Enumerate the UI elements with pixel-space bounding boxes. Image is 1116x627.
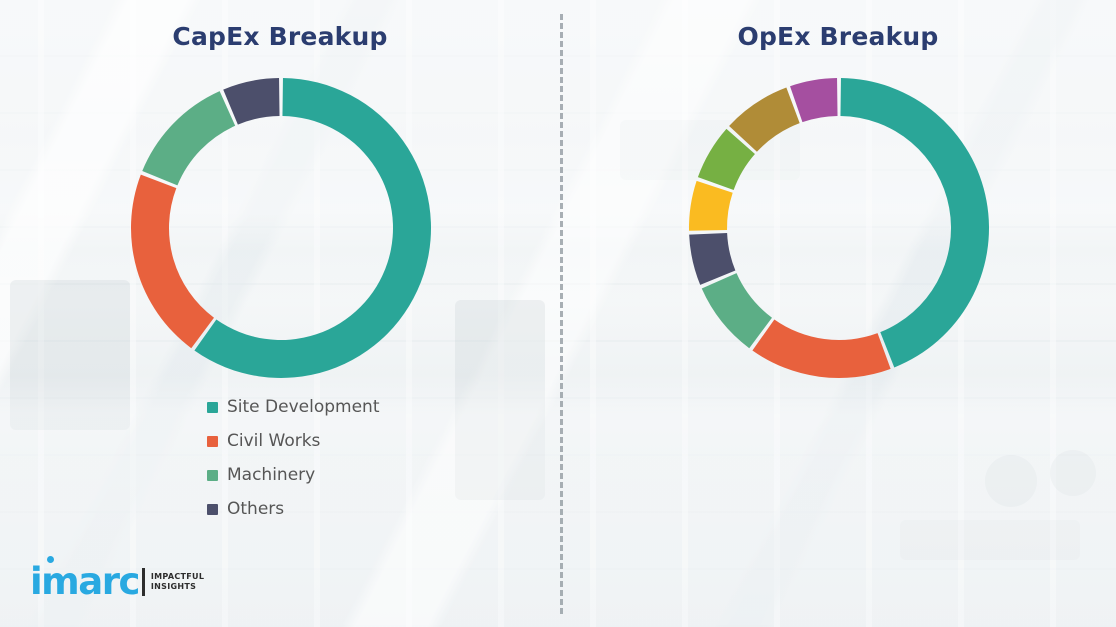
- donut-slice: [840, 78, 989, 367]
- legend-label: Site Development: [227, 397, 380, 417]
- donut-slice: [142, 91, 235, 185]
- legend-label: Others: [227, 499, 284, 519]
- donut-slice: [790, 78, 837, 122]
- legend-item[interactable]: Others: [207, 492, 380, 526]
- capex-donut-chart: [129, 76, 433, 380]
- logo-tagline-line1: IMPACTFUL: [151, 572, 204, 582]
- opex-chart-title: OpEx Breakup: [560, 22, 1116, 51]
- opex-donut-svg: [687, 76, 991, 380]
- legend-item[interactable]: Machinery: [207, 458, 380, 492]
- imarc-logo: imarc IMPACTFUL INSIGHTS: [30, 565, 204, 599]
- legend-swatch-icon: [207, 470, 218, 481]
- capex-legend: Site DevelopmentCivil WorksMachineryOthe…: [207, 390, 380, 526]
- logo-wordmark: imarc: [30, 565, 139, 599]
- logo-divider-bar: [142, 568, 145, 596]
- donut-slice: [131, 175, 214, 349]
- legend-swatch-icon: [207, 436, 218, 447]
- donut-slice: [752, 319, 890, 378]
- capex-donut-svg: [129, 76, 433, 380]
- legend-item[interactable]: Site Development: [207, 390, 380, 424]
- legend-label: Civil Works: [227, 431, 320, 451]
- legend-label: Machinery: [227, 465, 315, 485]
- capex-panel: CapEx Breakup Site DevelopmentCivil Work…: [0, 0, 560, 627]
- opex-donut-chart: [687, 76, 991, 380]
- donut-slice: [689, 181, 733, 231]
- logo-tagline-line2: INSIGHTS: [151, 582, 204, 592]
- logo-tagline: IMPACTFUL INSIGHTS: [151, 572, 204, 592]
- legend-swatch-icon: [207, 504, 218, 515]
- legend-item[interactable]: Civil Works: [207, 424, 380, 458]
- capex-chart-title: CapEx Breakup: [0, 22, 560, 51]
- donut-slice: [702, 273, 772, 348]
- opex-panel: OpEx Breakup Raw MaterialsSalaries and W…: [560, 0, 1116, 627]
- donut-slice: [223, 78, 279, 125]
- logo-dot-icon: [47, 556, 54, 563]
- legend-swatch-icon: [207, 402, 218, 413]
